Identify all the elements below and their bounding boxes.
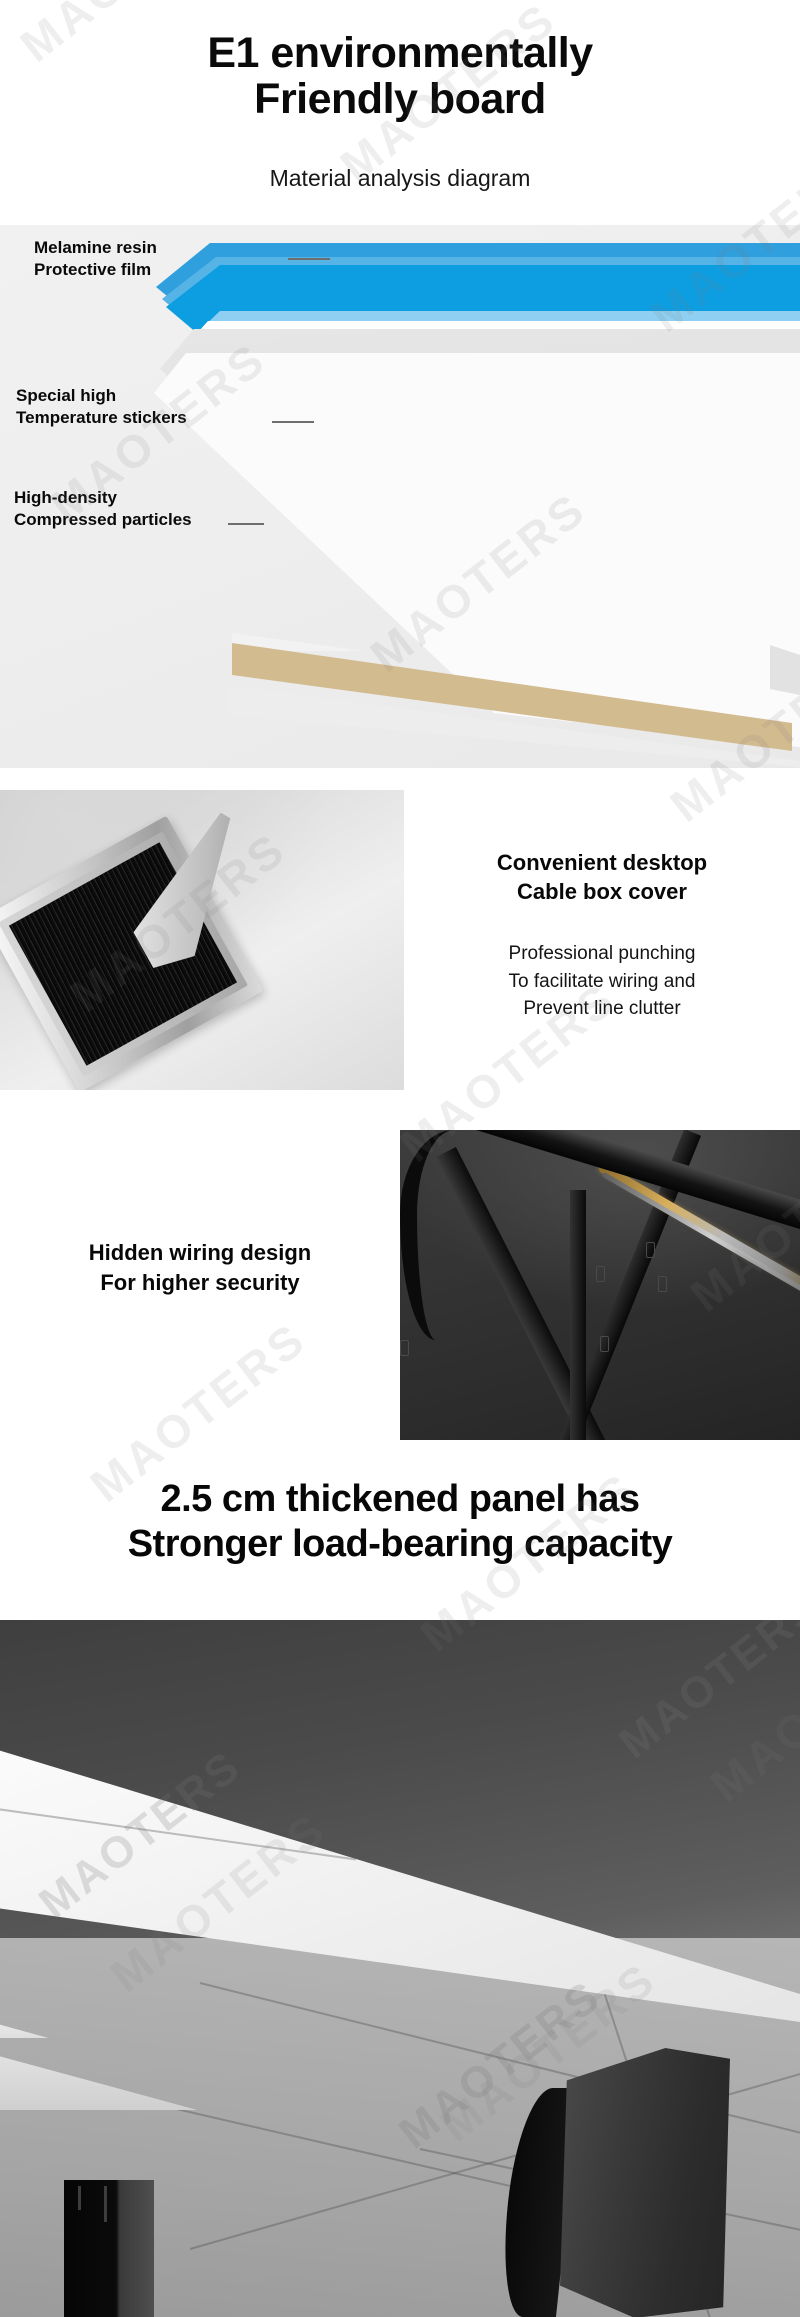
cable-box-body: Professional punching To facilitate wiri… [404, 940, 800, 1023]
cable-box-photo [0, 790, 404, 1090]
cable-box-text-block: Convenient desktop Cable box cover Profe… [404, 790, 800, 1090]
page-title-line-2: Friendly board [0, 76, 800, 122]
diagram-label-sticker-line-1: Special high [16, 385, 187, 407]
cable-box-heading-line-1: Convenient desktop [404, 848, 800, 877]
material-analysis-diagram: Melamine resin Protective film Special h… [0, 225, 800, 768]
page-title-line-1: E1 environmentally [0, 30, 800, 76]
frame-vertical-post [570, 1190, 586, 1440]
diagram-label-sticker: Special high Temperature stickers [16, 385, 187, 429]
page-title: E1 environmentally Friendly board [0, 30, 800, 123]
photo-watermark: MAOTERS [610, 1620, 800, 1769]
desk-leg-curved-face [560, 2048, 730, 2317]
diagram-label-sticker-line-2: Temperature stickers [16, 407, 187, 429]
cable-box-body-line-3: Prevent line clutter [404, 995, 800, 1023]
cable-box-body-line-2: To facilitate wiring and [404, 968, 800, 996]
cable-tray-perforation [400, 1340, 409, 1356]
cable-tray-perforation [600, 1336, 609, 1352]
hidden-wiring-text-block: Hidden wiring design For higher security [0, 1110, 400, 1440]
hero-section: E1 environmentally Friendly board Materi… [0, 0, 800, 220]
hidden-wiring-heading-line-2: For higher security [0, 1268, 400, 1298]
cable-tray-perforation [658, 1276, 667, 1292]
load-bearing-heading: 2.5 cm thickened panel has Stronger load… [0, 1477, 800, 1567]
hidden-wiring-heading-line-1: Hidden wiring design [0, 1238, 400, 1268]
load-bearing-section: 2.5 cm thickened panel has Stronger load… [0, 1455, 800, 1620]
leader-line-melamine [288, 258, 330, 260]
diagram-label-particle-line-2: Compressed particles [14, 509, 192, 531]
leader-line-sticker [272, 421, 314, 423]
diagram-label-melamine: Melamine resin Protective film [34, 237, 157, 281]
hidden-wiring-section: Hidden wiring design For higher security [0, 1110, 800, 1440]
diagram-label-melamine-line-1: Melamine resin [34, 237, 157, 259]
cable-grommet [0, 816, 263, 1090]
load-bearing-heading-line-2: Stronger load-bearing capacity [0, 1522, 800, 1567]
diagram-label-particle-line-1: High-density [14, 487, 192, 509]
cable-box-heading-line-2: Cable box cover [404, 877, 800, 906]
leader-line-particle [228, 523, 264, 525]
hidden-wiring-photo [400, 1130, 800, 1440]
cable-box-section: Convenient desktop Cable box cover Profe… [0, 790, 800, 1090]
desk-leg-left-notch [78, 2186, 81, 2210]
page-subtitle: Material analysis diagram [0, 165, 800, 192]
hidden-wiring-heading: Hidden wiring design For higher security [0, 1238, 400, 1297]
diagram-label-particle: High-density Compressed particles [14, 487, 192, 531]
diagram-label-melamine-line-2: Protective film [34, 259, 157, 281]
cable-tray-perforation [646, 1242, 655, 1258]
desk-hero-photo: MAOTERS MAOTERS MAOTERS [0, 1620, 800, 2317]
desk-leg-left-notch [104, 2186, 107, 2222]
load-bearing-heading-line-1: 2.5 cm thickened panel has [0, 1477, 800, 1522]
cable-tray-perforation [596, 1266, 605, 1282]
cable-box-heading: Convenient desktop Cable box cover [404, 848, 800, 906]
cable-box-body-line-1: Professional punching [404, 940, 800, 968]
